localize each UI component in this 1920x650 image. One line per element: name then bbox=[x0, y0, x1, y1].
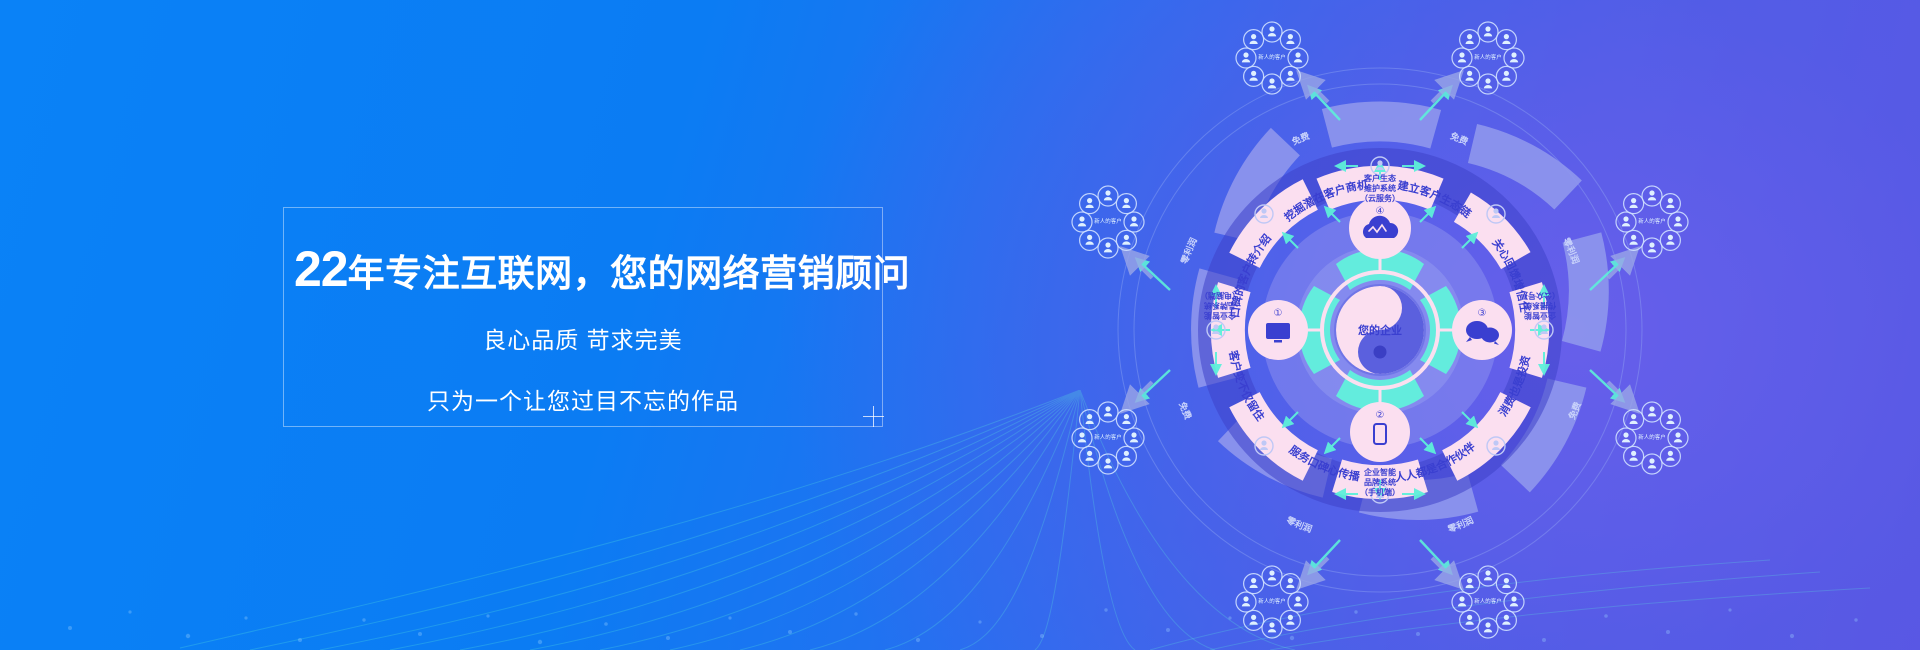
subtitle-line-1: 良心品质 苛求完美 bbox=[294, 321, 872, 355]
user-cluster-label: 新人的客户 bbox=[1474, 597, 1502, 605]
user-cluster-label: 新人的客户 bbox=[1258, 53, 1286, 61]
user-cluster-label: 新人的客户 bbox=[1094, 433, 1122, 441]
subtitle-line-2: 只为一个让您过目不忘的作品 bbox=[294, 382, 872, 416]
page-title: 22年专注互联网，您的网络营销顾问 bbox=[294, 244, 872, 294]
outer-ring-label: 免费 bbox=[1290, 130, 1311, 147]
ecosystem-diagram-svg: 您的企业 ④ ② bbox=[1040, 0, 1720, 650]
user-cluster-label: 新人的客户 bbox=[1638, 433, 1666, 441]
node-bubble-top: ④ bbox=[1350, 198, 1410, 258]
node-bubble-left: ① bbox=[1248, 300, 1308, 360]
user-cluster: 新人的客户 bbox=[1452, 22, 1524, 94]
user-cluster: 新人的客户 bbox=[1072, 186, 1144, 258]
headline-rest: 年专注互联网，您的网络营销顾问 bbox=[348, 253, 911, 294]
diagram-center-label: 您的企业 bbox=[1358, 323, 1402, 337]
user-cluster: 新人的客户 bbox=[1236, 22, 1308, 94]
user-cluster: 新人的客户 bbox=[1616, 402, 1688, 474]
svg-text:①: ① bbox=[1274, 308, 1283, 319]
corner-cross-marker bbox=[863, 406, 884, 427]
node-label-bottom: 企业智能品牌系统（手机端） bbox=[1336, 468, 1424, 498]
svg-text:③: ③ bbox=[1478, 308, 1487, 319]
user-cluster-label: 新人的客户 bbox=[1258, 597, 1286, 605]
node-label-top: 客户生态维护系统（云服务） bbox=[1336, 174, 1424, 204]
node-label-left: 企业智能品牌系统（电脑端） bbox=[1190, 290, 1250, 320]
user-cluster-label: 新人的客户 bbox=[1474, 53, 1502, 61]
user-cluster: 新人的客户 bbox=[1452, 566, 1524, 638]
headline-number: 22 bbox=[294, 241, 348, 297]
outer-ring-label: 零利润 bbox=[1284, 515, 1314, 535]
svg-text:②: ② bbox=[1376, 410, 1385, 421]
user-cluster-label: 新人的客户 bbox=[1638, 217, 1666, 225]
svg-text:④: ④ bbox=[1376, 206, 1385, 217]
node-bubble-bottom: ② bbox=[1350, 402, 1410, 462]
node-label-right: 企业智能传播系统（公众号） bbox=[1510, 290, 1570, 320]
node-bubble-right: ③ bbox=[1452, 300, 1512, 360]
ecosystem-diagram: 您的企业 ④ ② bbox=[1040, 0, 1720, 650]
user-cluster: 新人的客户 bbox=[1236, 566, 1308, 638]
hero-copy-box: 22年专注互联网，您的网络营销顾问 良心品质 苛求完美 只为一个让您过目不忘的作… bbox=[283, 207, 883, 427]
hero-banner: 22年专注互联网，您的网络营销顾问 良心品质 苛求完美 只为一个让您过目不忘的作… bbox=[0, 0, 1920, 650]
user-cluster: 新人的客户 bbox=[1072, 402, 1144, 474]
user-cluster: 新人的客户 bbox=[1616, 186, 1688, 258]
user-cluster-label: 新人的客户 bbox=[1094, 217, 1122, 225]
outer-ring-label: 零利润 bbox=[1179, 236, 1199, 266]
outer-ring-label: 免费 bbox=[1177, 400, 1194, 421]
